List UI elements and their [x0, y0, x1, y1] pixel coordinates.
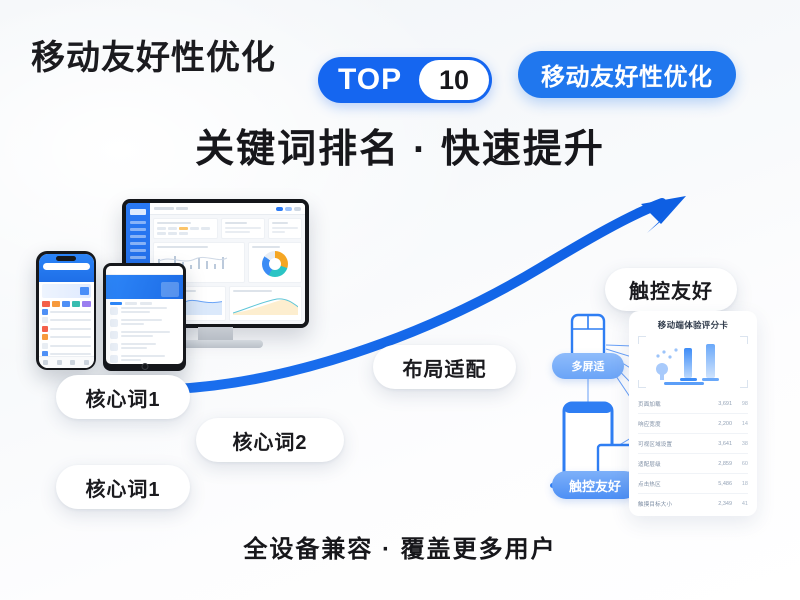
row-pct: 38	[732, 441, 748, 447]
row-value: 5,486	[706, 481, 732, 487]
dashboard-card-donut	[248, 242, 302, 283]
row-pct: 98	[732, 401, 748, 407]
row-name: 可视区域设置	[638, 440, 706, 448]
phone-banner	[42, 284, 91, 298]
row-name: 页面加载	[638, 400, 706, 408]
row-name: 适配层级	[638, 460, 706, 468]
table-row: 适配层级 2,859 60	[638, 454, 748, 474]
tablet-home-button	[141, 363, 148, 370]
phone-quick-icons	[39, 300, 94, 308]
layout-adaptation-pill[interactable]: 布局适配	[373, 345, 516, 389]
search-input[interactable]	[43, 263, 90, 270]
phone-tabbar[interactable]	[39, 356, 94, 368]
scorecard-chart	[638, 336, 748, 388]
footer-caption: 全设备兼容 · 覆盖更多用户	[0, 529, 800, 564]
list-item	[106, 319, 183, 327]
poster-canvas: 移动友好性优化 TOP 10 移动友好性优化 关键词排名 · 快速提升	[0, 0, 800, 600]
diagram-tag-touch: 触控友好	[552, 471, 638, 499]
smartphone-mockup	[36, 251, 96, 370]
tablet-tabs	[106, 299, 183, 307]
table-row: 点击热区 5,486 18	[638, 474, 748, 494]
row-value: 3,641	[706, 441, 732, 447]
list-item	[106, 343, 183, 351]
keyword-pill-2[interactable]: 核心词2	[196, 418, 344, 462]
tablet-body	[103, 263, 186, 371]
tablet-mockup	[103, 263, 186, 371]
tablet-hero-banner	[106, 275, 183, 299]
row-value: 3,691	[706, 401, 732, 407]
scorecard-table: 页面加载 3,691 98 响应宽度 2,200 14 可视区域设置 3,641…	[638, 394, 748, 513]
dashboard-card-stats	[221, 218, 265, 239]
row-value: 2,200	[706, 421, 732, 427]
keyword-pill-1[interactable]: 核心词1	[56, 375, 190, 419]
dashboard-card-side	[268, 218, 302, 239]
phone-notch	[56, 256, 76, 261]
scorecard-panel: 移动端体验评分卡	[629, 311, 757, 516]
diagram-tag-multiscreen: 多屏适	[552, 353, 624, 379]
donut-chart-icon	[262, 251, 288, 277]
row-name: 触摸目标大小	[638, 500, 706, 508]
table-row: 页面加载 3,691 98	[638, 394, 748, 414]
row-name: 响应宽度	[638, 420, 706, 428]
row-pct: 60	[732, 461, 748, 467]
table-row: 响应宽度 2,200 14	[638, 414, 748, 434]
dashboard-card-filters	[153, 218, 218, 239]
row-pct: 41	[732, 501, 748, 507]
dashboard-topbar	[150, 203, 305, 215]
dashboard-card-area2	[229, 286, 302, 321]
list-item	[106, 307, 183, 315]
row-pct: 18	[732, 481, 748, 487]
phone-screen	[39, 254, 94, 368]
table-row: 可视区域设置 3,641 38	[638, 434, 748, 454]
list-item	[106, 331, 183, 339]
row-name: 点击热区	[638, 480, 706, 488]
scorecard-title: 移动端体验评分卡	[638, 319, 748, 331]
tablet-screen	[106, 266, 183, 364]
keyword-pill-3[interactable]: 核心词1	[56, 465, 190, 509]
row-pct: 14	[732, 421, 748, 427]
mobile-experience-diagram: 多屏适 触控友好 移动端体验评分卡	[538, 305, 766, 520]
row-value: 2,859	[706, 461, 732, 467]
row-value: 2,349	[706, 501, 732, 507]
phone-body	[36, 251, 96, 370]
table-row: 触摸目标大小 2,349 41	[638, 494, 748, 513]
